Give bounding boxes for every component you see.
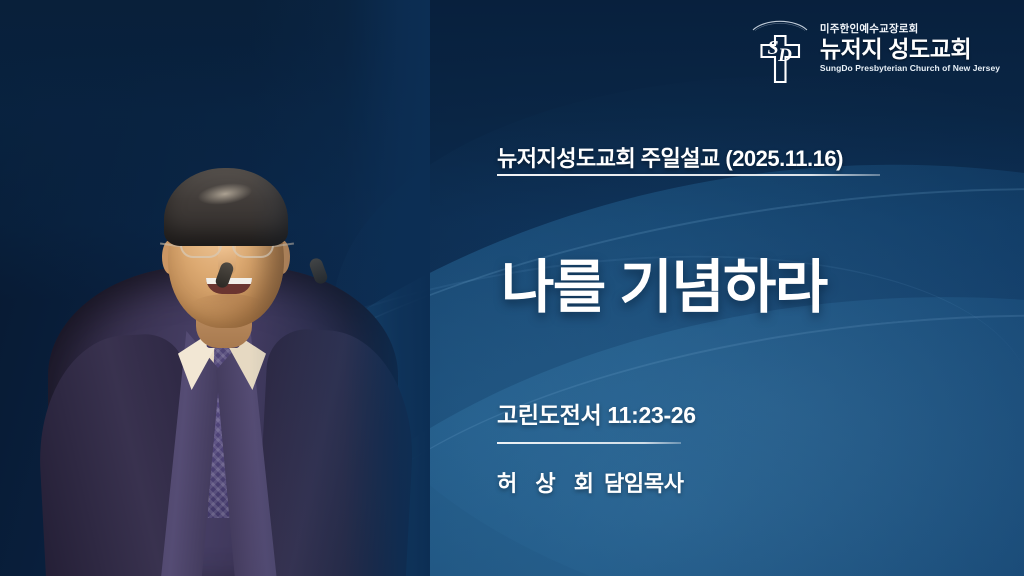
cross-emblem-icon: S D <box>749 12 811 84</box>
slide-text-block: 뉴저지성도교회 주일설교 (2025.11.16) 나를 기념하라 고린도전서 … <box>497 0 927 576</box>
church-name-english: SungDo Presbyterian Church of New Jersey <box>820 64 1000 73</box>
section-divider <box>497 442 681 444</box>
photo-edge-fade <box>0 0 430 576</box>
sermon-subtitle: 뉴저지성도교회 주일설교 (2025.11.16) <box>497 141 843 173</box>
church-logo: S D 미주한인예수교장로회 뉴저지 성도교회 SungDo Presbyter… <box>749 12 1000 84</box>
scripture-reference: 고린도전서 11:23-26 <box>497 396 696 430</box>
church-logo-text: 미주한인예수교장로회 뉴저지 성도교회 SungDo Presbyterian … <box>820 24 1000 72</box>
sermon-title-slide: S D 미주한인예수교장로회 뉴저지 성도교회 SungDo Presbyter… <box>0 0 1024 576</box>
church-name-korean: 뉴저지 성도교회 <box>820 38 971 61</box>
sermon-title: 나를 기념하라 <box>501 240 827 324</box>
preacher-role: 담임목사 <box>604 471 684 496</box>
svg-text:S: S <box>767 37 778 59</box>
preacher-name: 허 상 회 <box>497 471 600 496</box>
svg-text:D: D <box>777 45 792 66</box>
subtitle-underline <box>497 174 880 176</box>
denomination-label: 미주한인예수교장로회 <box>820 24 919 35</box>
preacher-credit: 허 상 회담임목사 <box>497 466 684 498</box>
speaker-photo <box>0 0 430 576</box>
